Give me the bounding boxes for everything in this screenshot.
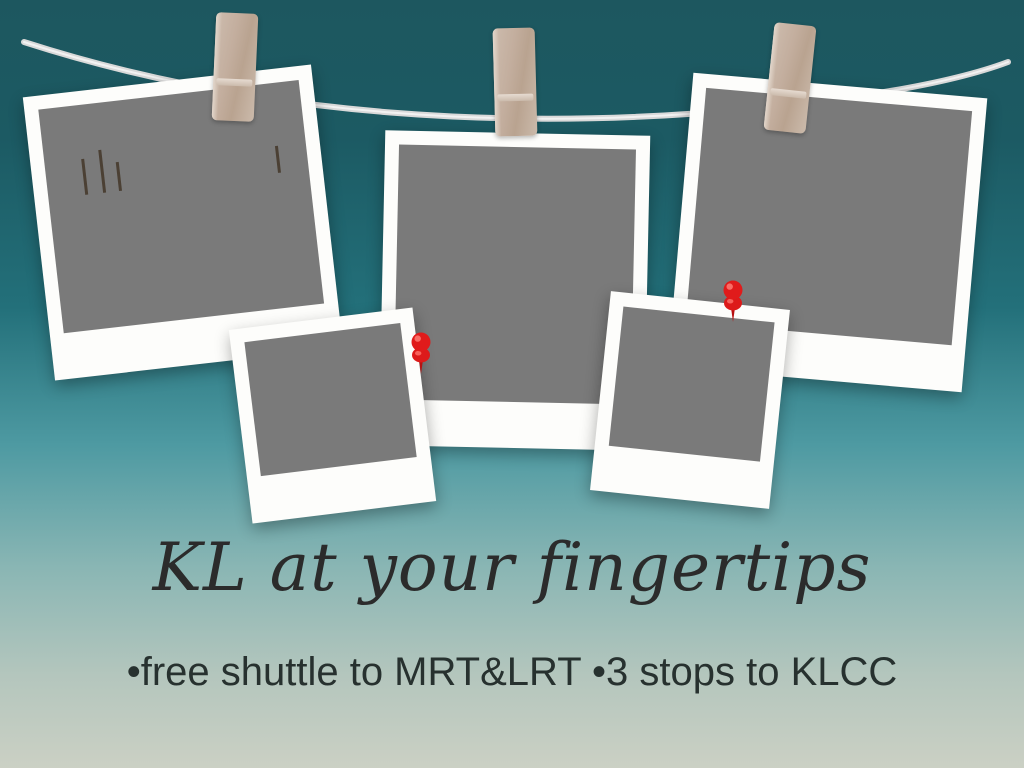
polaroid-garden-hammock[interactable] bbox=[590, 291, 790, 509]
photo-garden-egg-chair bbox=[244, 323, 416, 476]
poster-canvas: KL at your fingertips •free shuttle to M… bbox=[0, 0, 1024, 768]
tagline-text: •free shuttle to MRT&LRT •3 stops to KLC… bbox=[0, 650, 1024, 694]
clothespin-center[interactable] bbox=[493, 27, 538, 136]
photo-pool bbox=[38, 80, 324, 333]
pushpin-hammock[interactable] bbox=[718, 278, 748, 324]
pushpin-garden[interactable] bbox=[406, 330, 436, 376]
clothespin-left[interactable] bbox=[212, 12, 259, 122]
headline-text: KL at your fingertips bbox=[0, 533, 1024, 602]
photo-garden-hammock bbox=[609, 307, 775, 462]
